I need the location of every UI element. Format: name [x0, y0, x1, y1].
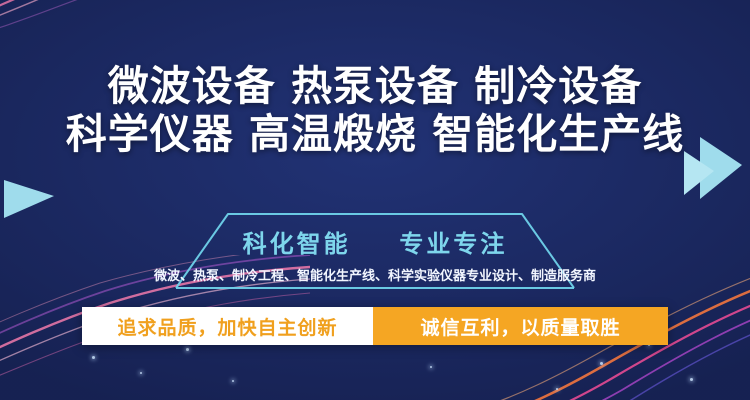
subtitle: 科化智能 专业专注 — [0, 224, 750, 259]
particle-dot — [556, 388, 558, 390]
particle-dot — [186, 348, 189, 351]
slogan-left: 追求品质，加快自主创新 — [82, 307, 373, 345]
promo-banner: 微波设备 热泵设备 制冷设备 科学仪器 高温煅烧 智能化生产线 科化智能 专业专… — [0, 0, 750, 400]
headline-line-2: 科学仪器 高温煅烧 智能化生产线 — [0, 110, 750, 158]
subtitle-right: 专业专注 — [399, 230, 507, 258]
page-title: 微波设备 热泵设备 制冷设备 科学仪器 高温煅烧 智能化生产线 — [0, 62, 750, 158]
slogan-right: 诚信互利，以质量取胜 — [373, 307, 668, 345]
particle-dot — [92, 356, 95, 359]
tagline: 微波、热泵、制冷工程、智能化生产线、科学实验仪器专业设计、制造服务商 — [0, 265, 750, 284]
headline-line-1: 微波设备 热泵设备 制冷设备 — [0, 62, 750, 110]
slogan-bar-group: 追求品质，加快自主创新 诚信互利，以质量取胜 — [82, 307, 668, 345]
particle-dot — [430, 366, 432, 368]
particle-dot — [600, 362, 603, 365]
particle-dot — [232, 380, 234, 382]
triangle-right-icon — [4, 180, 54, 218]
particle-dot — [140, 372, 142, 374]
subtitle-left: 科化智能 — [243, 230, 351, 258]
particle-dot — [690, 378, 693, 381]
